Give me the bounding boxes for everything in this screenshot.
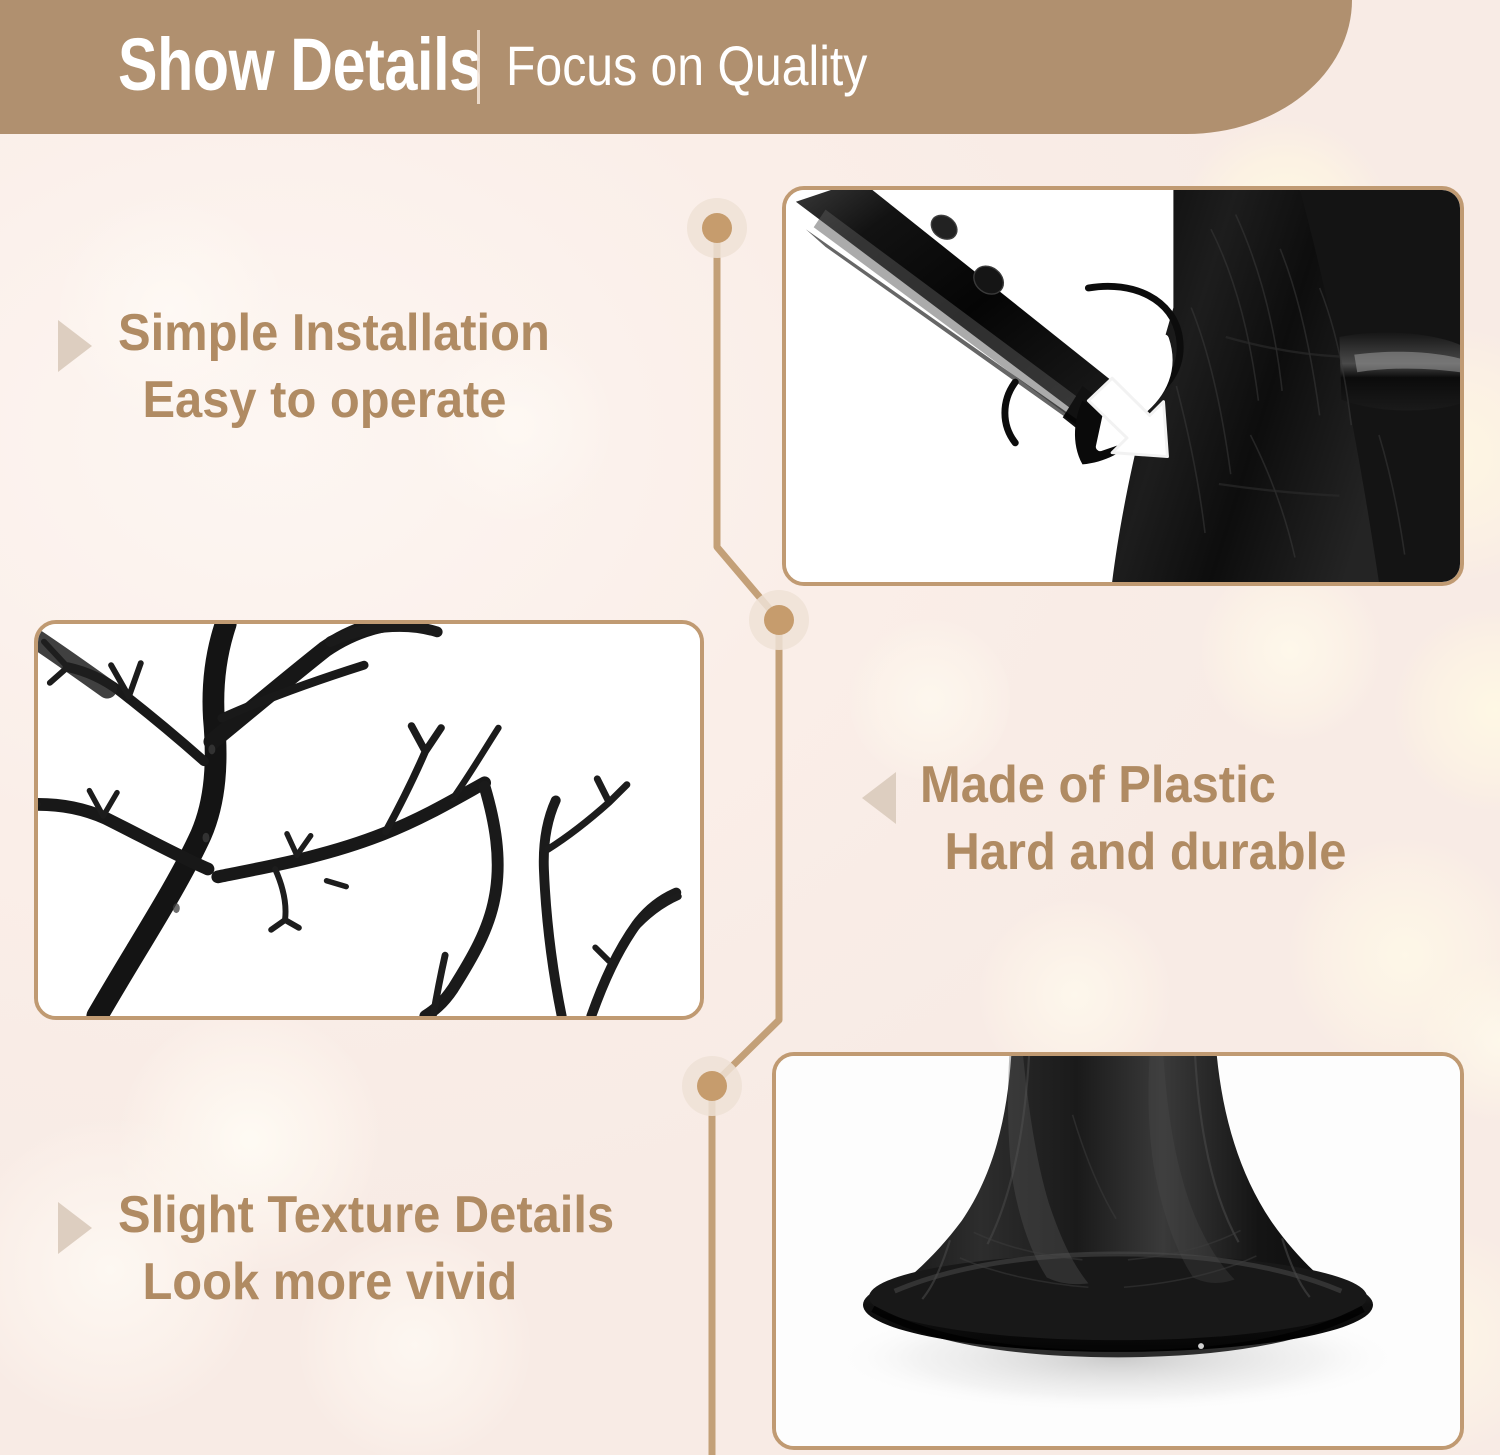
feature-line-2: Hard and durable — [920, 819, 1346, 886]
node-middle — [764, 605, 794, 635]
feature-line-2: Easy to operate — [118, 367, 550, 434]
feature-text-group: Simple Installation Easy to operate — [118, 300, 577, 433]
feature-simple-installation: Simple Installation Easy to operate — [58, 300, 577, 433]
page-title: Show Details — [118, 28, 482, 102]
feature-line-1: Simple Installation — [118, 300, 550, 367]
node-top — [702, 213, 732, 243]
header-banner: Show Details Focus on Quality — [0, 0, 1352, 134]
triangle-right-icon — [58, 1202, 92, 1254]
node-bottom — [697, 1071, 727, 1101]
feature-made-of-plastic: Made of Plastic Hard and durable — [862, 752, 1374, 885]
panel-branch-closeup[interactable] — [34, 620, 704, 1020]
header-divider — [477, 30, 480, 104]
feature-line-2: Look more vivid — [118, 1249, 614, 1316]
branch-closeup-image — [38, 624, 700, 1016]
feature-slight-texture-details: Slight Texture Details Look more vivid — [58, 1182, 646, 1315]
connector-path — [712, 228, 779, 1455]
base-closeup-image — [776, 1056, 1460, 1446]
feature-line-1: Slight Texture Details — [118, 1182, 614, 1249]
feature-text-group: Made of Plastic Hard and durable — [920, 752, 1374, 885]
feature-line-1: Made of Plastic — [920, 752, 1346, 819]
panel-base-closeup[interactable] — [772, 1052, 1464, 1450]
page-subtitle: Focus on Quality — [506, 38, 867, 94]
joint-closeup-image — [786, 190, 1460, 582]
infographic-root: Show Details Focus on Quality — [0, 0, 1500, 1455]
feature-text-group: Slight Texture Details Look more vivid — [118, 1182, 646, 1315]
header-banner-content: Show Details Focus on Quality — [118, 0, 926, 134]
triangle-left-icon — [862, 772, 896, 824]
panel-joint-closeup[interactable] — [782, 186, 1464, 586]
triangle-right-icon — [58, 320, 92, 372]
